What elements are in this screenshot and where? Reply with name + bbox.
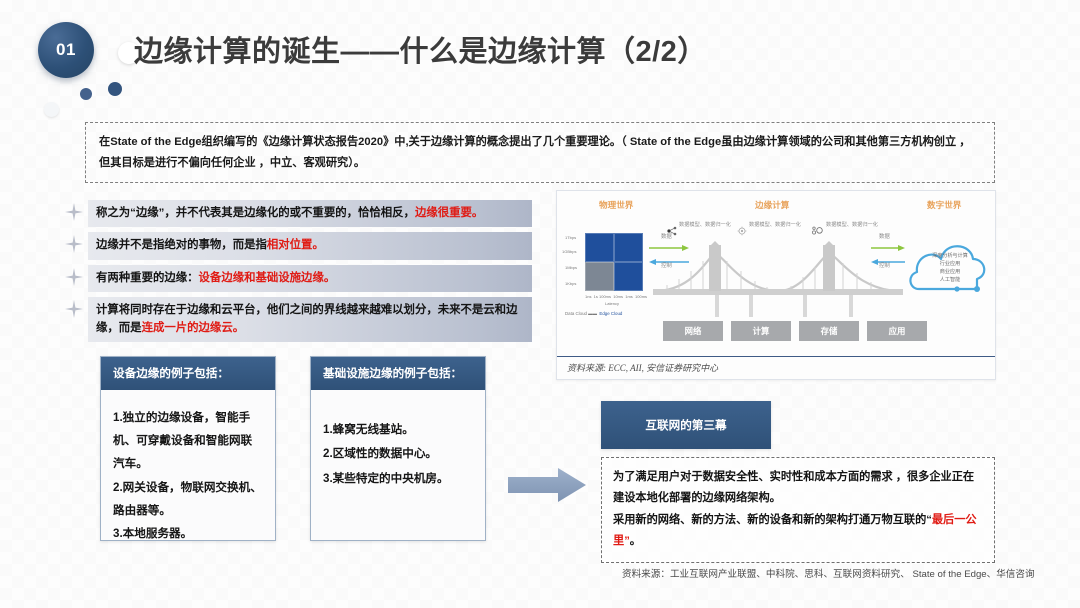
figure-header-digital: 数字世界 bbox=[927, 199, 961, 211]
sparkle-icon bbox=[62, 200, 88, 222]
list-item: 称之为“边缘”，并不代表其是边缘化的或不重要的，恰恰相反，边缘很重要。 bbox=[62, 200, 532, 227]
card-header: 基础设施边缘的例子包括： bbox=[311, 357, 485, 390]
slide-source-note: 资料来源：工业互联网产业联盟、中科院、思科、互联网资料研究、 State of … bbox=[622, 568, 1042, 583]
list-item-text: 边缘并不是指绝对的事物，而是指相对位置。 bbox=[88, 232, 532, 259]
list-item: 3.本地服务器。 bbox=[113, 522, 263, 545]
cloud-line: 人工智能 bbox=[923, 277, 977, 285]
quadrant-x-ticks: 1ns 1s 100ms 10ms 1ms 100ms bbox=[585, 294, 647, 299]
conclusion-line-1: 为了满足用户对于数据安全性、实时性和成本方面的需求 ，很多企业正在建设本地化部署… bbox=[613, 471, 974, 504]
list-item: 1.蜂窝无线基站。 bbox=[323, 418, 473, 442]
quadrant-y-tick: 1GBbps bbox=[562, 249, 576, 254]
figure-source-note: 资料来源: ECC, AII, 安信证券研究中心 bbox=[557, 356, 995, 379]
figure-node-label: 数据模型、数据归一化 bbox=[679, 222, 731, 230]
conclusion-line-2b: 。 bbox=[630, 535, 641, 547]
key-points-list: 称之为“边缘”，并不代表其是边缘化的或不重要的，恰恰相反，边缘很重要。 边缘并不… bbox=[62, 200, 532, 347]
device-edge-card: 设备边缘的例子包括： 1.独立的边缘设备，智能手机、可穿戴设备和智能网联汽车。 … bbox=[100, 356, 276, 541]
figure-layer-tags: 网络 计算 存储 应用 bbox=[663, 321, 927, 341]
conclusion-note: 为了满足用户对于数据安全性、实时性和成本方面的需求 ，很多企业正在建设本地化部署… bbox=[601, 457, 995, 563]
list-item-text-plain: 称之为“边缘”，并不代表其是边缘化的或不重要的，恰恰相反， bbox=[96, 207, 415, 219]
cloud-capability-list: 深度分析与计算 行业应用 商业应用 人工智能 bbox=[923, 253, 977, 285]
conclusion-line-2a: 采用新的网络、新的方法、新的设备和新的架构打通万物互联的“ bbox=[613, 514, 932, 526]
quadrant-x-axis-label: Latency bbox=[605, 301, 619, 306]
list-item: 2.区域性的数据中心。 bbox=[323, 442, 473, 466]
cloud-line: 商业应用 bbox=[923, 269, 977, 277]
flow-label-control-2: 控制 bbox=[879, 261, 890, 269]
figure-node-label: 数据模型、数据归一化 bbox=[749, 222, 801, 230]
quadrant-y-tick: 1Kbps bbox=[565, 281, 576, 286]
list-item-text: 有两种重要的边缘：设备边缘和基础设施边缘。 bbox=[88, 265, 532, 292]
list-item-text-highlight: 设备边缘和基础设施边缘。 bbox=[199, 272, 336, 284]
flow-label-data-2: 数据 bbox=[879, 232, 890, 240]
cloud-line: 深度分析与计算 bbox=[923, 253, 977, 261]
figure-node-label: 数据模型、数据归一化 bbox=[826, 222, 878, 230]
cloud-line: 行业应用 bbox=[923, 261, 977, 269]
list-item-text-plain: 边缘并不是指绝对的事物，而是指 bbox=[96, 239, 267, 251]
slide-header: 01 边缘计算的诞生——什么是边缘计算（2/2） bbox=[0, 0, 1080, 110]
list-item: 1.独立的边缘设备，智能手机、可穿戴设备和智能网联汽车。 bbox=[113, 406, 263, 476]
infrastructure-edge-card: 基础设施边缘的例子包括： 1.蜂窝无线基站。 2.区域性的数据中心。 3.某些特… bbox=[310, 356, 486, 541]
section-number-badge: 01 bbox=[38, 22, 94, 78]
right-arrow-icon bbox=[508, 468, 586, 502]
bridge-illustration bbox=[653, 239, 903, 322]
list-item: 边缘并不是指绝对的事物，而是指相对位置。 bbox=[62, 232, 532, 259]
layer-tag: 计算 bbox=[731, 321, 791, 341]
layer-tag: 存储 bbox=[799, 321, 859, 341]
figure-header-edge: 边缘计算 bbox=[755, 199, 789, 211]
flow-label-data: 数据 bbox=[661, 232, 672, 240]
edge-computing-bridge-figure: 物理世界 边缘计算 数字世界 1Tbps 1GBbps 1Mbps 1Kbps … bbox=[556, 190, 996, 380]
list-item: 2.网关设备，物联网交换机、路由器等。 bbox=[113, 476, 263, 522]
card-body: 1.独立的边缘设备，智能手机、可穿戴设备和智能网联汽车。 2.网关设备，物联网交… bbox=[101, 390, 275, 557]
third-act-banner: 互联网的第三幕 bbox=[601, 401, 771, 449]
decor-circle-blue-small bbox=[80, 88, 92, 100]
list-item-text: 称之为“边缘”，并不代表其是边缘化的或不重要的，恰恰相反，边缘很重要。 bbox=[88, 200, 532, 227]
list-item: 有两种重要的边缘：设备边缘和基础设施边缘。 bbox=[62, 265, 532, 292]
list-item-text-plain: 有两种重要的边缘： bbox=[96, 272, 199, 284]
list-item-text: 计算将同时存在于边缘和云平台，他们之间的界线越来越难以划分，未来不是云和边缘，而… bbox=[88, 297, 532, 343]
decor-circle-white-small bbox=[44, 102, 59, 117]
layer-tag: 应用 bbox=[867, 321, 927, 341]
list-item-text-highlight: 连成一片的边缘云。 bbox=[142, 322, 245, 334]
card-body: 1.蜂窝无线基站。 2.区域性的数据中心。 3.某些特定的中央机房。 bbox=[311, 390, 485, 503]
sparkle-icon bbox=[62, 265, 88, 287]
intro-note: 在State of the Edge组织编写的《边缘计算状态报告2020》中,关… bbox=[85, 122, 995, 183]
figure-header-physical: 物理世界 bbox=[599, 199, 633, 211]
sparkle-icon bbox=[62, 232, 88, 254]
quadrant-cell bbox=[585, 262, 614, 291]
list-item: 3.某些特定的中央机房。 bbox=[323, 467, 473, 491]
figure-column-headers: 物理世界 边缘计算 数字世界 bbox=[557, 199, 995, 213]
quadrant-legend: Data Cloud ▬▬ Edge Cloud bbox=[565, 311, 622, 316]
card-header: 设备边缘的例子包括： bbox=[101, 357, 275, 390]
digital-world-cloud-icon: 深度分析与计算 行业应用 商业应用 人工智能 bbox=[905, 231, 991, 301]
list-item-text-highlight: 相对位置。 bbox=[267, 239, 324, 251]
quadrant-y-tick: 1Mbps bbox=[565, 265, 577, 270]
layer-tag: 网络 bbox=[663, 321, 723, 341]
page-title: 边缘计算的诞生——什么是边缘计算（2/2） bbox=[134, 28, 707, 70]
quadrant-cell bbox=[614, 262, 643, 291]
list-item: 计算将同时存在于边缘和云平台，他们之间的界线越来越难以划分，未来不是云和边缘，而… bbox=[62, 297, 532, 343]
list-item-text-highlight: 边缘很重要。 bbox=[415, 207, 483, 219]
decor-circle-blue-medium bbox=[108, 82, 122, 96]
flow-label-control: 控制 bbox=[661, 261, 672, 269]
sparkle-icon bbox=[62, 297, 88, 319]
